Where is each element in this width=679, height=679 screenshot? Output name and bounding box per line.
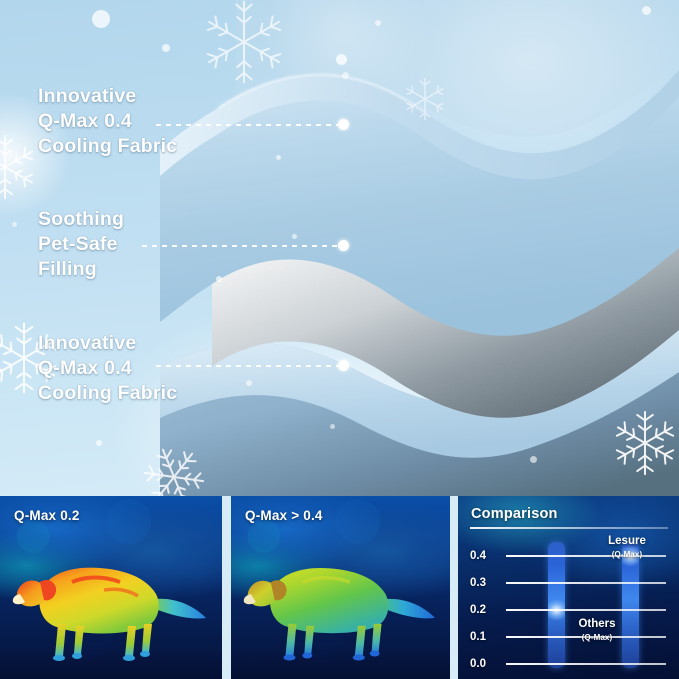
infographic-canvas: Innovative Q-Max 0.4 Cooling Fabric Soot… — [0, 0, 679, 679]
chart-plot-area: 0.4 0.3 0.2 0.1 0.0 Others (Q-Max) Lesur… — [470, 536, 670, 671]
chart-title-underline — [470, 527, 668, 529]
thermal-dog-hot-image — [8, 544, 214, 666]
thermal-panel-low-title: Q-Max 0.2 — [14, 508, 80, 523]
leader-dot-top-fabric — [338, 119, 349, 130]
ytick-0.0: 0.0 — [470, 658, 504, 670]
ytick-0.4: 0.4 — [470, 550, 504, 562]
gridline-0.3 — [506, 582, 666, 584]
gridline-0.2 — [506, 609, 666, 611]
ytick-0.3: 0.3 — [470, 577, 504, 589]
bar-label-others: Others (Q-Max) — [566, 618, 628, 644]
bar-label-lesure: Lesure (Q-Max) — [596, 535, 658, 561]
ytick-0.2: 0.2 — [470, 604, 504, 616]
leader-dot-filling — [338, 240, 349, 251]
chart-title: Comparison — [471, 506, 558, 522]
comparison-chart-panel: Comparison 0.4 0.3 0.2 0.1 0.0 — [458, 496, 679, 679]
thermal-dog-cool-image — [239, 544, 443, 666]
bar-label-lesure-name: Lesure — [608, 535, 646, 547]
bar-label-others-sub: (Q-Max) — [566, 631, 628, 644]
feature-label-filling: Soothing Pet-Safe Filling — [38, 207, 124, 282]
hero-section: Innovative Q-Max 0.4 Cooling Fabric Soot… — [0, 0, 679, 496]
ytick-0.1: 0.1 — [470, 631, 504, 643]
gridline-0.0 — [506, 663, 666, 665]
leader-line-filling — [142, 245, 340, 247]
thermal-panel-high: Q-Max > 0.4 — [231, 496, 450, 679]
comparison-section: Q-Max 0.2 — [0, 496, 679, 679]
leader-line-top-fabric — [156, 124, 340, 126]
bar-label-others-name: Others — [578, 618, 615, 630]
thermal-panel-low: Q-Max 0.2 — [0, 496, 222, 679]
leader-line-bottom-fabric — [156, 365, 340, 367]
feature-label-bottom-fabric: Innovative Q-Max 0.4 Cooling Fabric — [38, 331, 177, 406]
leader-dot-bottom-fabric — [338, 360, 349, 371]
thermal-panel-high-title: Q-Max > 0.4 — [245, 508, 323, 523]
bar-label-lesure-sub: (Q-Max) — [596, 548, 658, 561]
feature-label-top-fabric: Innovative Q-Max 0.4 Cooling Fabric — [38, 84, 177, 159]
